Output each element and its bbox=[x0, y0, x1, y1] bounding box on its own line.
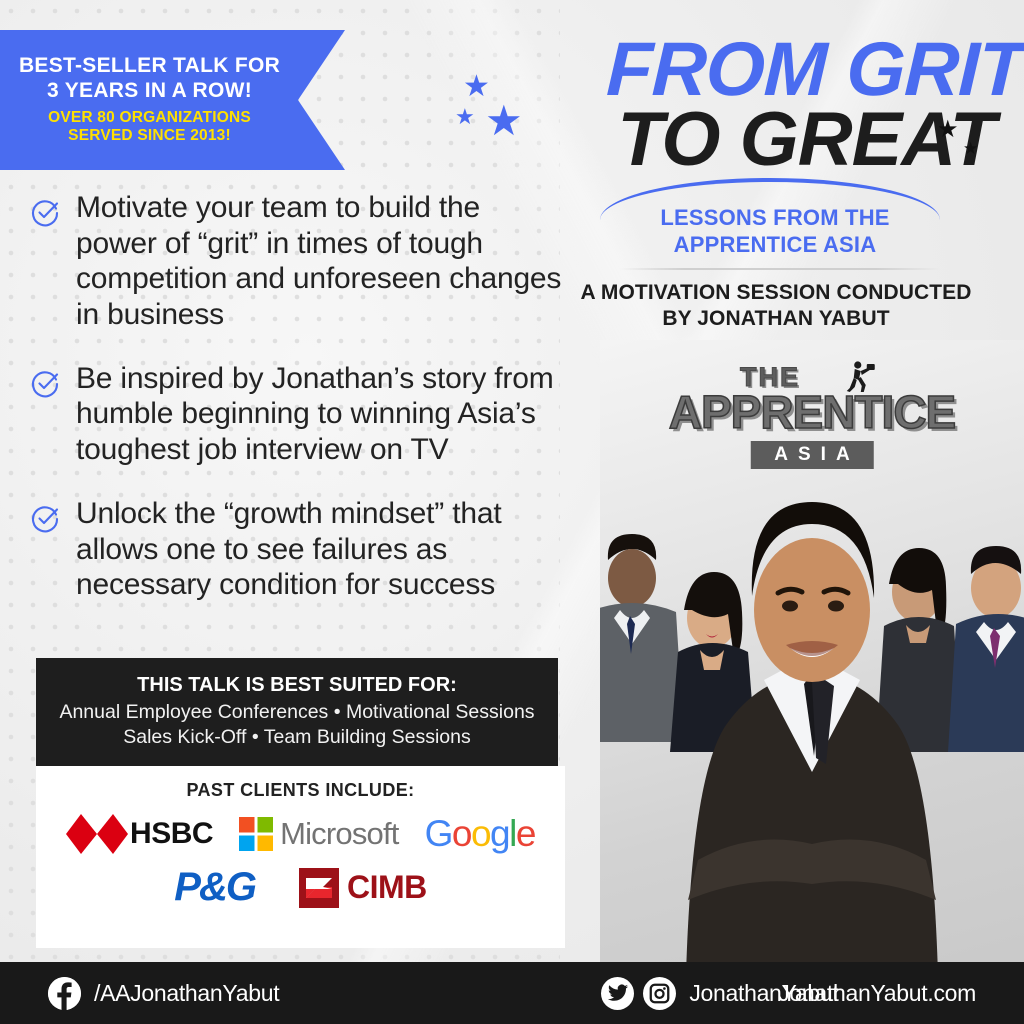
title-line-2: TO GREAT bbox=[495, 96, 995, 183]
star-icon-black-2: ★ bbox=[963, 140, 978, 157]
list-item: Unlock the “growth mindset” that allows … bbox=[30, 496, 565, 603]
facebook-handle: /AAJonathanYabut bbox=[94, 980, 279, 1007]
ribbon-line-2: 3 YEARS IN A ROW! bbox=[47, 79, 252, 103]
ribbon-line-3: OVER 80 ORGANIZATIONS bbox=[48, 109, 251, 127]
list-item: Be inspired by Jonathan’s story from hum… bbox=[30, 361, 565, 468]
benefit-text: Unlock the “growth mindset” that allows … bbox=[76, 496, 565, 603]
best-suited-heading: THIS TALK IS BEST SUITED FOR: bbox=[137, 674, 457, 697]
past-clients-heading: PAST CLIENTS INCLUDE: bbox=[36, 780, 565, 801]
client-logo-row-1: HSBC Microsoft Google bbox=[36, 813, 565, 855]
star-icon-black-1: ★ bbox=[937, 118, 959, 142]
client-logo-hsbc: HSBC bbox=[66, 814, 213, 854]
facebook-icon[interactable] bbox=[48, 977, 81, 1010]
list-item: Motivate your team to build the power of… bbox=[30, 190, 565, 333]
cimb-arrow-icon bbox=[299, 868, 339, 908]
benefit-text: Be inspired by Jonathan’s story from hum… bbox=[76, 361, 565, 468]
microsoft-label: Microsoft bbox=[280, 816, 399, 852]
session-subtitle: A MOTIVATION SESSION CONDUCTED BY JONATH… bbox=[556, 280, 996, 333]
apprentice-asia-logo: THE APPRENTICE ASIA bbox=[669, 362, 955, 469]
star-icon-blue-2: ★ bbox=[455, 106, 475, 128]
benefits-list: Motivate your team to build the power of… bbox=[30, 190, 565, 631]
session-line-2: BY JONATHAN YABUT bbox=[556, 306, 996, 332]
session-line-1: A MOTIVATION SESSION CONDUCTED bbox=[556, 280, 996, 306]
divider-line bbox=[620, 268, 940, 270]
lessons-line-1: LESSONS FROM THE bbox=[575, 205, 975, 232]
client-logo-microsoft: Microsoft bbox=[239, 816, 399, 852]
ribbon-line-1: BEST-SELLER TALK FOR bbox=[19, 54, 280, 78]
client-logo-row-2: P&G CIMB bbox=[36, 865, 565, 910]
instagram-icon[interactable] bbox=[643, 977, 676, 1010]
client-logo-cimb: CIMB bbox=[299, 868, 427, 908]
lessons-line-2: APPRENTICE ASIA bbox=[575, 232, 975, 259]
apprentice-asia-photo: THE APPRENTICE ASIA bbox=[600, 340, 1024, 975]
past-clients-box: PAST CLIENTS INCLUDE: HSBC Microsoft Goo… bbox=[36, 766, 565, 948]
client-logo-pg: P&G bbox=[174, 865, 255, 910]
microsoft-squares-icon bbox=[239, 817, 273, 851]
jonathan-yabut-portrait bbox=[600, 460, 1024, 975]
lessons-subtitle: LESSONS FROM THE APPRENTICE ASIA bbox=[575, 205, 975, 259]
cimb-label: CIMB bbox=[347, 869, 427, 906]
check-circle-icon bbox=[30, 496, 60, 603]
logo-the-text: THE bbox=[740, 362, 800, 393]
footer-bar: /AAJonathanYabut JonathanYabut JonathanY… bbox=[0, 962, 1024, 1024]
check-circle-icon bbox=[30, 190, 60, 333]
title-block: ★ ★ ★ FROM GRIT TO GREAT ★ ★ bbox=[455, 18, 1024, 178]
benefit-text: Motivate your team to build the power of… bbox=[76, 190, 565, 333]
website-url[interactable]: JonathanYabut.com bbox=[778, 980, 976, 1007]
check-circle-icon bbox=[30, 361, 60, 468]
ribbon-line-4: SERVED SINCE 2013! bbox=[68, 127, 231, 145]
hsbc-hexagon-icon bbox=[66, 814, 128, 854]
hsbc-label: HSBC bbox=[130, 817, 213, 851]
best-suited-line-1: Annual Employee Conferences • Motivation… bbox=[59, 700, 534, 725]
client-logo-google: Google bbox=[425, 813, 535, 855]
twitter-icon[interactable] bbox=[601, 977, 634, 1010]
running-businessman-icon bbox=[837, 358, 877, 398]
best-suited-line-2: Sales Kick-Off • Team Building Sessions bbox=[123, 725, 471, 750]
best-seller-ribbon: BEST-SELLER TALK FOR 3 YEARS IN A ROW! O… bbox=[0, 30, 345, 170]
facebook-group[interactable]: /AAJonathanYabut bbox=[48, 977, 279, 1010]
logo-apprentice-text: APPRENTICE bbox=[669, 385, 955, 439]
best-suited-box: THIS TALK IS BEST SUITED FOR: Annual Emp… bbox=[36, 658, 558, 766]
